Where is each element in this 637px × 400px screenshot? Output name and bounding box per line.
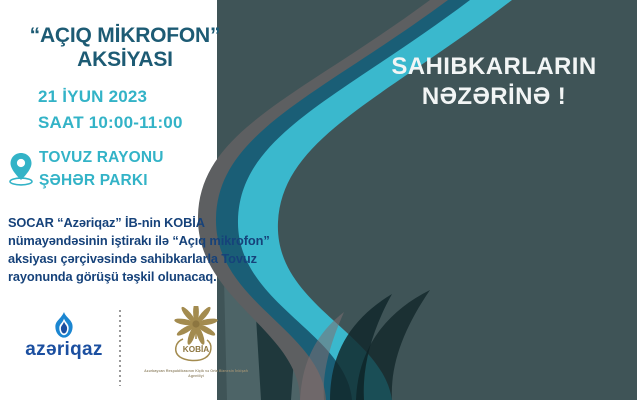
location-text: TOVUZ RAYONU ŞƏHƏR PARKI <box>39 150 164 195</box>
event-datetime: 21 İYUN 2023 SAAT 10:00-11:00 <box>38 88 268 140</box>
body-paragraph: SOCAR “Azəriqaz” İB-nin KOBİA nümayəndəs… <box>8 214 304 287</box>
event-date: 21 İYUN 2023 <box>38 88 268 105</box>
kobia-flower-icon: KOBİA <box>153 306 239 368</box>
location-line-2: ŞƏHƏR PARKI <box>39 173 164 189</box>
event-location: TOVUZ RAYONU ŞƏHƏR PARKI <box>8 150 258 195</box>
headline-line-1: SAHIBKARLARIN <box>391 53 596 80</box>
logo-row: azəriqaz <box>14 310 254 392</box>
title-line-2: AKSİYASI <box>0 48 250 72</box>
headline-line-2: NƏZƏRİNƏ ! <box>358 82 630 112</box>
poster-root: “AÇIQ MİKROFON” AKSİYASI 21 İYUN 2023 SA… <box>0 0 637 400</box>
kobia-logo: KOBİA Azərbaycan Respublikasının Kiçik v… <box>144 306 248 379</box>
title-line-1: “AÇIQ MİKROFON” <box>30 24 221 47</box>
logo-divider <box>119 310 121 386</box>
headline: SAHIBKARLARIN NƏZƏRİNƏ ! <box>358 52 630 112</box>
location-line-1: TOVUZ RAYONU <box>39 150 164 166</box>
page-title: “AÇIQ MİKROFON” AKSİYASI <box>0 24 250 71</box>
gas-flame-icon <box>53 312 75 338</box>
location-pin-icon <box>8 152 34 186</box>
azeriqaz-wordmark: azəriqaz <box>20 340 108 359</box>
event-time: SAAT 10:00-11:00 <box>38 114 268 131</box>
kobia-subtitle: Azərbaycan Respublikasının Kiçik və Orta… <box>144 369 248 379</box>
left-content: “AÇIQ MİKROFON” AKSİYASI 21 İYUN 2023 SA… <box>0 0 300 400</box>
kobia-mark-label: KOBİA <box>183 344 209 354</box>
azeriqaz-logo: azəriqaz <box>20 312 108 359</box>
